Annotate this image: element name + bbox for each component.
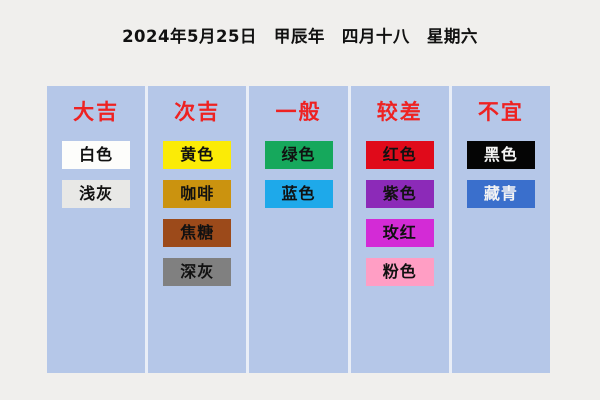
category-column: 次吉黄色咖啡焦糖深灰 (145, 86, 246, 373)
color-chip: 红色 (366, 141, 434, 169)
color-chip: 蓝色 (265, 180, 333, 208)
color-chip-list: 绿色蓝色 (249, 141, 347, 208)
color-chip: 咖啡 (163, 180, 231, 208)
category-column: 大吉白色浅灰 (47, 86, 145, 373)
color-chip-list: 黄色咖啡焦糖深灰 (148, 141, 246, 286)
color-chip: 藏青 (467, 180, 535, 208)
category-column: 较差红色紫色玫红粉色 (348, 86, 449, 373)
lucky-colors-panel: 大吉白色浅灰次吉黄色咖啡焦糖深灰一般绿色蓝色较差红色紫色玫红粉色不宜黑色藏青 (47, 86, 550, 373)
page-root: 2024年5月25日 甲辰年 四月十八 星期六 大吉白色浅灰次吉黄色咖啡焦糖深灰… (0, 0, 600, 400)
color-chip: 深灰 (163, 258, 231, 286)
color-chip: 粉色 (366, 258, 434, 286)
category-title: 较差 (377, 102, 423, 123)
category-title: 次吉 (174, 102, 220, 123)
color-chip: 浅灰 (62, 180, 130, 208)
color-chip-list: 红色紫色玫红粉色 (351, 141, 449, 286)
color-chip-list: 白色浅灰 (47, 141, 145, 208)
color-chip: 黄色 (163, 141, 231, 169)
color-chip: 绿色 (265, 141, 333, 169)
color-chip-list: 黑色藏青 (452, 141, 550, 208)
category-title: 一般 (276, 102, 322, 123)
category-title: 不宜 (478, 102, 524, 123)
category-title: 大吉 (73, 102, 119, 123)
color-chip: 紫色 (366, 180, 434, 208)
color-chip: 焦糖 (163, 219, 231, 247)
color-chip: 黑色 (467, 141, 535, 169)
color-chip: 玫红 (366, 219, 434, 247)
color-chip: 白色 (62, 141, 130, 169)
category-column: 不宜黑色藏青 (449, 86, 550, 373)
date-title: 2024年5月25日 甲辰年 四月十八 星期六 (0, 23, 600, 47)
category-column: 一般绿色蓝色 (246, 86, 347, 373)
